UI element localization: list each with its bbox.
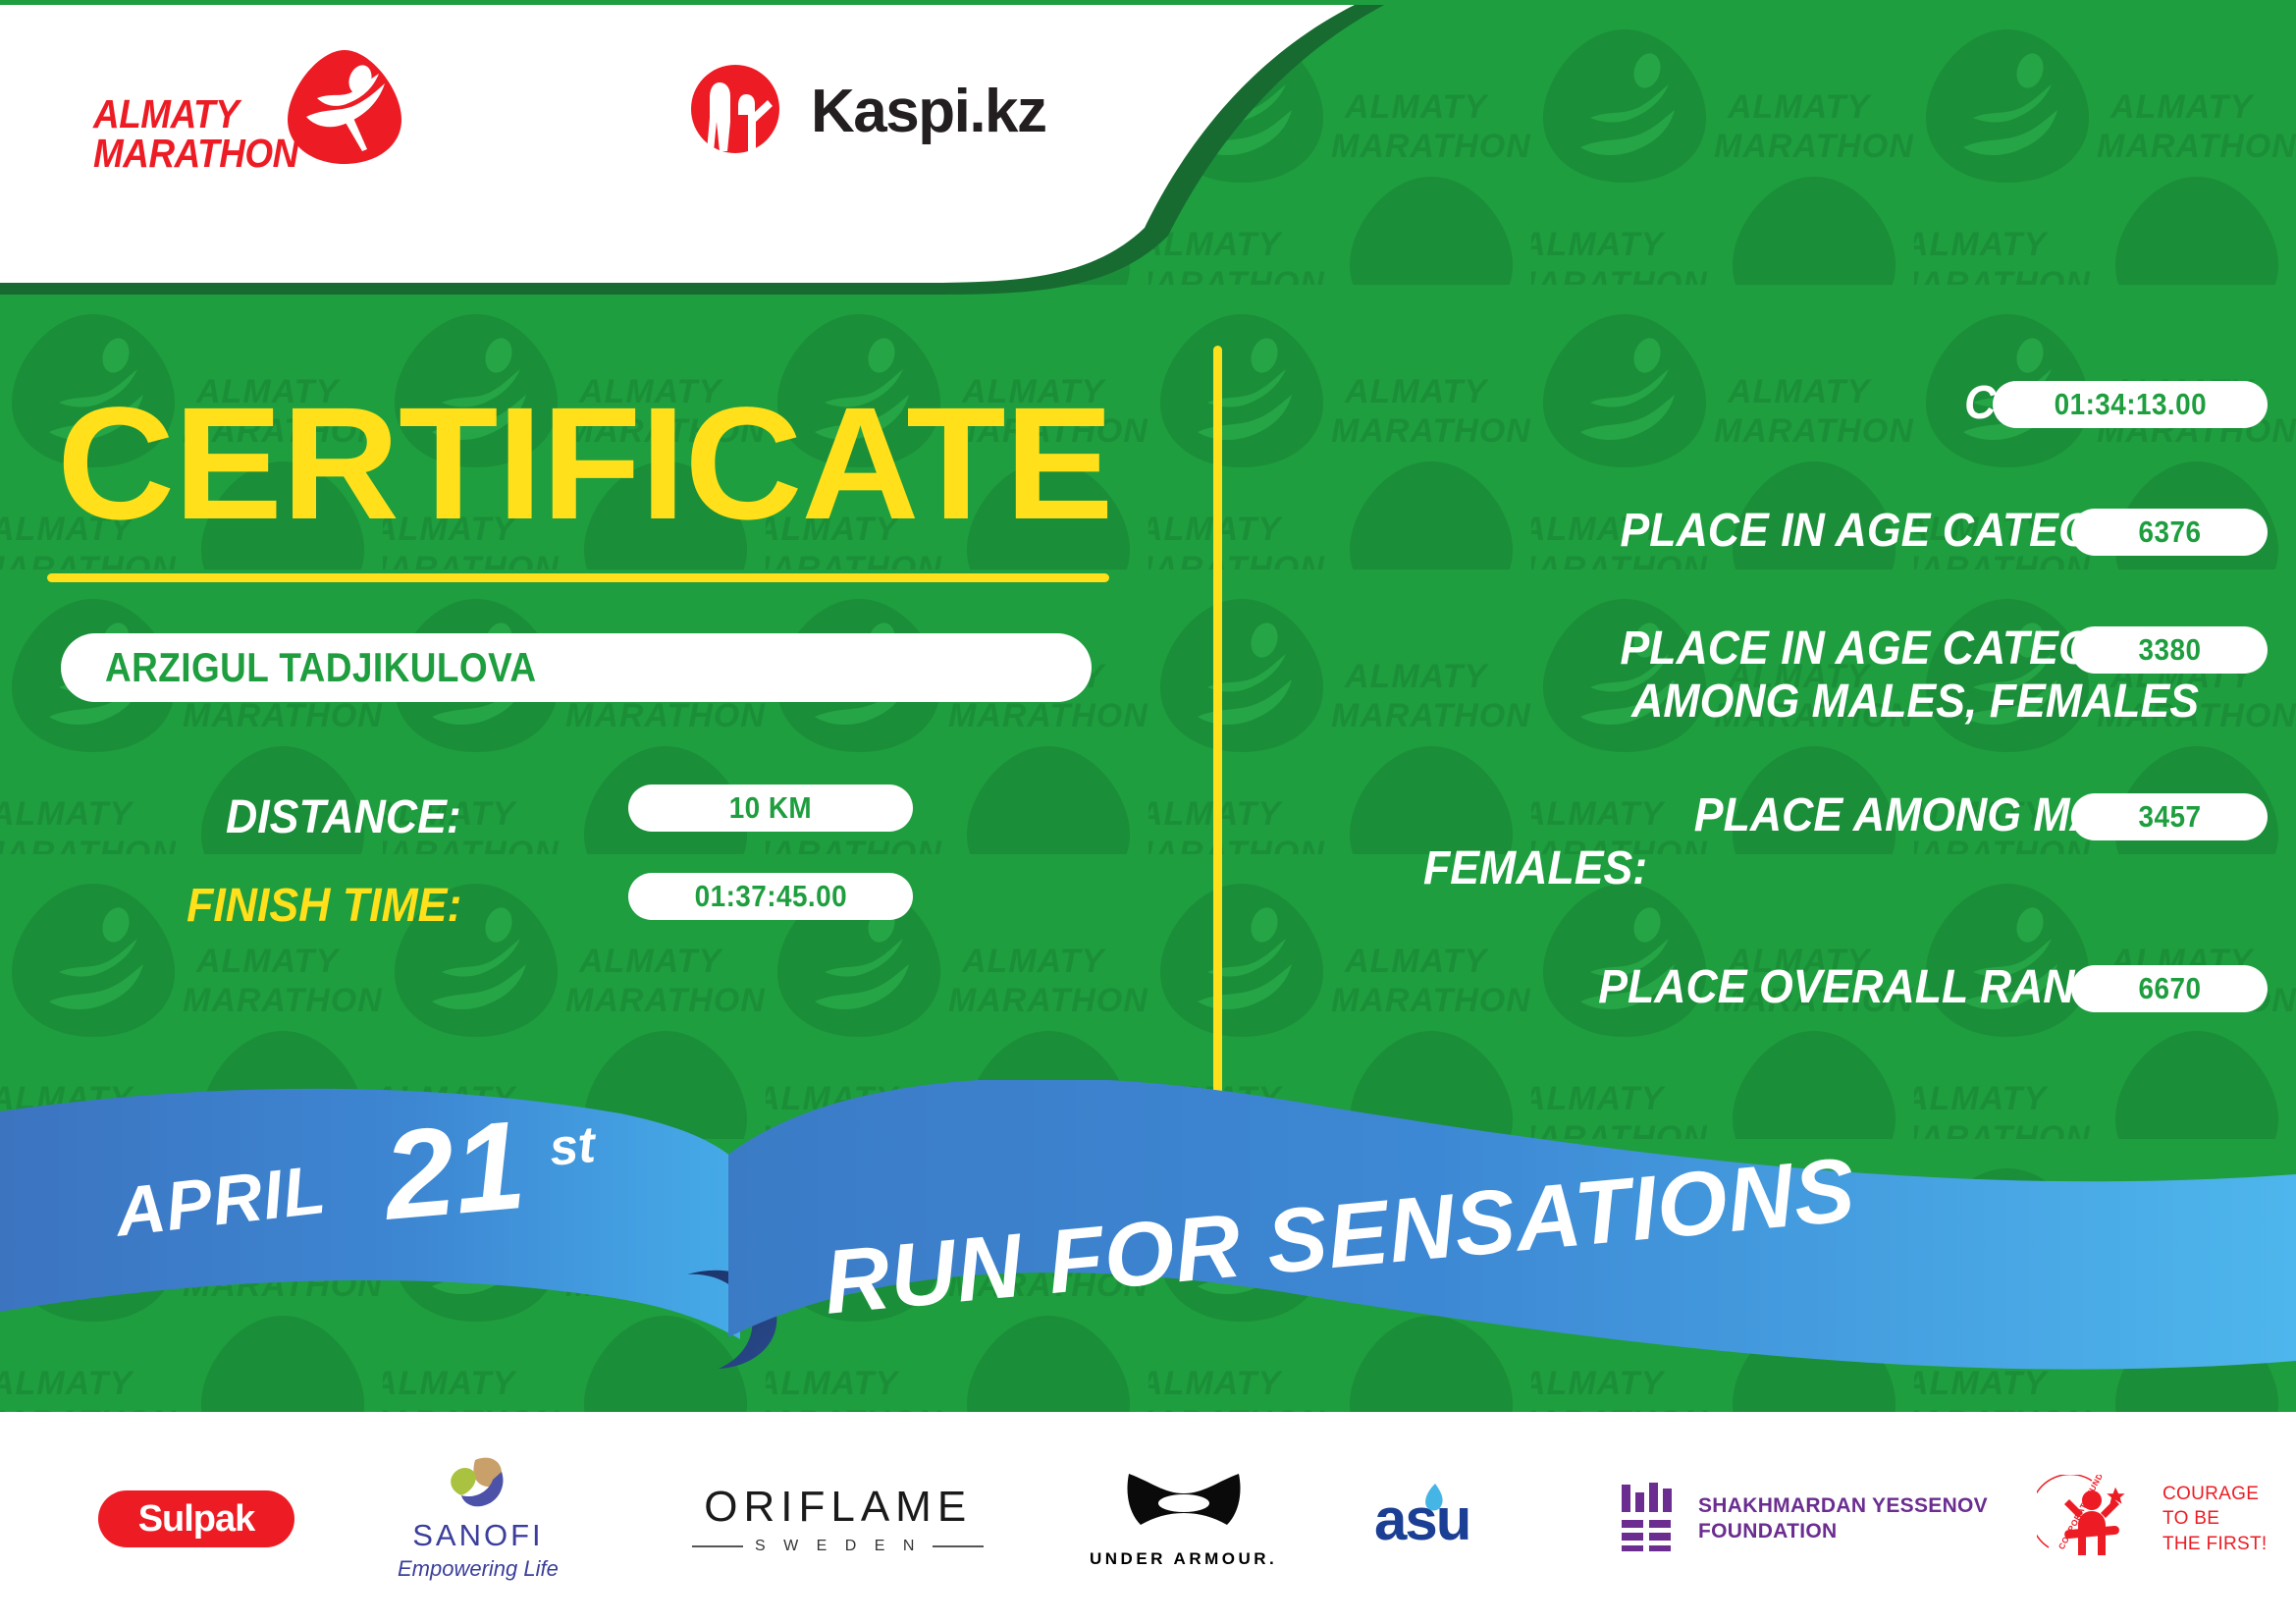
ribbon-day: 21: [379, 1093, 531, 1249]
place-among-gender-label-line2: FEMALES:: [1423, 842, 2145, 895]
finish-time-label: FINISH TIME:: [187, 879, 461, 933]
sponsor-sanofi[interactable]: SANOFI Empowering Life: [398, 1414, 559, 1624]
distance-value: 10 KM: [729, 790, 812, 826]
sanofi-leaf-icon: [446, 1456, 510, 1518]
sponsor-sulpak[interactable]: Sulpak: [98, 1414, 294, 1624]
place-age-category-value-pill: 6376: [2071, 509, 2268, 556]
place-age-category-gender-value-pill: 3380: [2071, 626, 2268, 674]
result-row-place-age-category-gender: PLACE IN AGE CATEGORY: AMONG MALES, FEMA…: [1266, 619, 2199, 785]
column-divider: [1213, 346, 1222, 1100]
almaty-marathon-logo-line2: MARATHON: [93, 134, 270, 173]
distance-label: DISTANCE:: [226, 790, 461, 844]
place-age-category-value: 6376: [2138, 514, 2201, 550]
kaspi-logo[interactable]: Kaspi.kz: [687, 61, 1046, 162]
yessenov-logo: SHAKHMARDAN YESSENOV FOUNDATION: [1620, 1483, 1988, 1556]
courage-figure-icon: CORPORATE FUND: [2037, 1475, 2153, 1564]
result-row-place-overall: PLACE OVERALL RANKING: 6670: [1266, 957, 2199, 1075]
courage-line2: TO BE: [2163, 1508, 2219, 1529]
finish-time-value: 01:37:45.00: [694, 879, 846, 914]
sponsor-under-armour[interactable]: UNDER ARMOUR.: [1090, 1414, 1277, 1624]
chip-time-value-pill: 01:34:13.00: [1993, 381, 2268, 428]
detail-row-finish-time: FINISH TIME: 01:37:45.00: [0, 869, 1139, 957]
oriflame-tagline: S W E D E N: [755, 1538, 921, 1555]
oriflame-logo: ORIFLAME S W E D E N: [692, 1483, 984, 1555]
ribbon-day-suffix: st: [547, 1115, 597, 1178]
oriflame-logo-text: ORIFLAME: [704, 1483, 972, 1532]
oriflame-sub: S W E D E N: [692, 1538, 984, 1555]
sanofi-tagline: Empowering Life: [398, 1556, 559, 1582]
kaspi-people-circle-icon: [687, 61, 783, 162]
yessenov-bars-icon: [1620, 1483, 1677, 1556]
sulpak-logo: Sulpak: [98, 1490, 294, 1547]
title-divider-rule: [47, 573, 1109, 582]
running-figure-drop-icon: [285, 47, 404, 172]
place-age-category-gender-value: 3380: [2138, 632, 2201, 668]
oriflame-rule-left: [692, 1545, 743, 1547]
detail-row-distance: DISTANCE: 10 KM: [0, 781, 1139, 869]
sponsor-yessenov-foundation[interactable]: SHAKHMARDAN YESSENOV FOUNDATION: [1620, 1414, 1988, 1624]
courage-line3: THE FIRST!: [2163, 1534, 2267, 1554]
asu-logo: asu: [1374, 1486, 1469, 1553]
courage-logo: CORPORATE FUND COURAGE TO BE THE FIRST!: [2037, 1475, 2267, 1564]
participant-name-value: ARZIGUL TADJIKULOVA: [105, 644, 537, 691]
almaty-marathon-logo[interactable]: ALMATY MARATHON: [93, 47, 388, 165]
sponsor-asu[interactable]: asu: [1374, 1414, 1469, 1624]
chip-time-value: 01:34:13.00: [2054, 387, 2206, 422]
sponsor-courage-fund[interactable]: CORPORATE FUND COURAGE TO BE THE FIRST!: [2037, 1414, 2267, 1624]
page-title: CERTIFICATE: [57, 383, 1139, 543]
sanofi-logo-text: SANOFI: [412, 1518, 543, 1553]
distance-value-pill: 10 KM: [628, 785, 913, 832]
oriflame-rule-right: [933, 1545, 984, 1547]
result-row-place-age-category: PLACE IN AGE CATEGORY: 6376: [1266, 501, 2199, 619]
participant-name-field: ARZIGUL TADJIKULOVA: [61, 633, 1092, 702]
certificate-canvas: ALMATY MARATHON ALMATY MARATHON: [0, 0, 2296, 1624]
almaty-marathon-logo-line1: ALMATY: [93, 94, 270, 134]
sulpak-logo-text: Sulpak: [138, 1498, 255, 1541]
place-among-gender-value: 3457: [2138, 799, 2201, 835]
sponsor-oriflame[interactable]: ORIFLAME S W E D E N: [692, 1414, 984, 1624]
place-overall-value: 6670: [2138, 971, 2201, 1006]
header-logos: ALMATY MARATHON: [0, 0, 1227, 196]
courage-line1: COURAGE: [2163, 1484, 2259, 1504]
result-row-chip-time: CHIP TIME: 01:34:13.00: [1266, 373, 2199, 501]
yessenov-text: SHAKHMARDAN YESSENOV FOUNDATION: [1698, 1493, 1988, 1545]
under-armour-logo-text: UNDER ARMOUR.: [1090, 1549, 1277, 1569]
under-armour-logo: UNDER ARMOUR.: [1090, 1470, 1277, 1569]
yessenov-line2: FOUNDATION: [1698, 1520, 1837, 1543]
kaspi-logo-text: Kaspi.kz: [811, 77, 1046, 146]
courage-text: COURAGE TO BE THE FIRST!: [2163, 1482, 2267, 1557]
results-panel: CHIP TIME: 01:34:13.00 PLACE IN AGE CATE…: [1266, 373, 2199, 1075]
finish-time-value-pill: 01:37:45.00: [628, 873, 913, 920]
place-overall-value-pill: 6670: [2071, 965, 2268, 1012]
certificate-details: DISTANCE: 10 KM FINISH TIME: 01:37:45.00: [0, 781, 1139, 957]
almaty-marathon-logo-text: ALMATY MARATHON: [93, 94, 270, 173]
place-among-gender-value-pill: 3457: [2071, 793, 2268, 840]
sponsor-bar: Sulpak SANOFI Empowering Life ORIFLAME: [0, 1414, 2296, 1624]
under-armour-icon: [1121, 1470, 1247, 1543]
result-row-place-among-gender: PLACE AMONG MALES, FEMALES: 3457: [1266, 785, 2199, 957]
place-age-category-gender-label-line2: AMONG MALES, FEMALES: [1477, 676, 2199, 729]
asu-droplet-icon: [1421, 1482, 1447, 1520]
sanofi-logo: SANOFI Empowering Life: [398, 1456, 559, 1582]
yessenov-line1: SHAKHMARDAN YESSENOV: [1698, 1494, 1988, 1517]
